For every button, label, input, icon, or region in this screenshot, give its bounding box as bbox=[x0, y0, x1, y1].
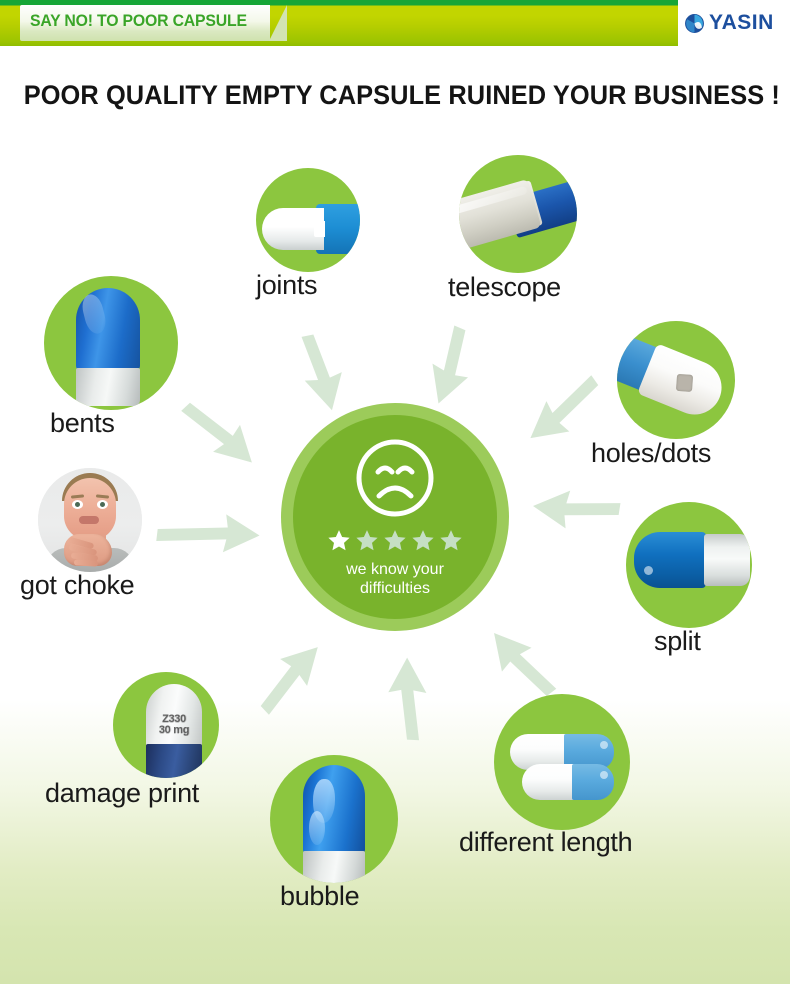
star-icon-empty-2 bbox=[354, 528, 380, 553]
capsule-telescope-icon bbox=[459, 155, 577, 273]
arrow-from-bubble bbox=[387, 657, 428, 741]
center-hub: we know your difficulties bbox=[281, 403, 509, 631]
capsule-bent-icon bbox=[44, 276, 178, 410]
defect-label-bents: bents bbox=[50, 408, 115, 439]
defect-node-joints[interactable]: joints bbox=[256, 168, 360, 272]
hub-caption: we know your difficulties bbox=[303, 560, 487, 598]
defect-node-holes-dots[interactable]: holes/dots bbox=[617, 321, 735, 439]
defect-node-bubble[interactable]: bubble bbox=[270, 755, 398, 883]
arrow-from-split bbox=[532, 488, 621, 532]
capsule-hole-icon bbox=[617, 321, 735, 439]
defect-diagram: we know your difficulties bents joints bbox=[0, 0, 790, 984]
star-icon-empty-5 bbox=[438, 528, 464, 553]
sad-face-icon bbox=[354, 437, 436, 519]
arrow-from-got-choke bbox=[156, 512, 260, 554]
choking-man-photo-icon bbox=[38, 468, 142, 572]
star-icon-empty-3 bbox=[382, 528, 408, 553]
defect-label-bubble: bubble bbox=[280, 881, 359, 912]
hub-caption-line1: we know your bbox=[303, 560, 487, 579]
hub-caption-line2: difficulties bbox=[303, 579, 487, 598]
defect-node-split[interactable]: split bbox=[626, 502, 752, 628]
defect-label-got-choke: got choke bbox=[20, 570, 134, 601]
defect-label-different-length: different length bbox=[459, 827, 632, 858]
defect-label-telescope: telescope bbox=[448, 272, 561, 303]
star-icon-filled-1 bbox=[326, 528, 352, 553]
defect-label-joints: joints bbox=[256, 270, 317, 301]
defect-label-split: split bbox=[654, 626, 701, 657]
arrow-from-bents bbox=[175, 389, 265, 475]
star-icon-empty-4 bbox=[410, 528, 436, 553]
capsule-length-icon bbox=[494, 694, 630, 830]
defect-label-damage-print: damage print bbox=[45, 778, 199, 809]
defect-node-damage-print[interactable]: Z330 30 mg damage print bbox=[113, 672, 219, 778]
defect-node-got-choke[interactable]: got choke bbox=[38, 468, 142, 572]
defect-label-holes-dots: holes/dots bbox=[591, 438, 711, 469]
page-root: SAY NO! TO POOR CAPSULE YASIN POOR QUALI… bbox=[0, 0, 790, 984]
defect-node-bents[interactable]: bents bbox=[44, 276, 178, 410]
arrow-from-telescope bbox=[421, 323, 482, 410]
arrow-from-damage-print bbox=[247, 634, 331, 721]
defect-node-telescope[interactable]: telescope bbox=[459, 155, 577, 273]
capsule-bubble-icon bbox=[270, 755, 398, 883]
rating-stars bbox=[309, 527, 481, 553]
capsule-print-icon: Z330 30 mg bbox=[113, 672, 219, 778]
defect-node-different-length[interactable]: different length bbox=[494, 694, 630, 830]
capsule-joint-icon bbox=[256, 168, 360, 272]
damage-print-line2: 30 mg bbox=[159, 724, 189, 736]
hub-core: we know your difficulties bbox=[293, 415, 497, 619]
capsule-split-icon bbox=[626, 502, 752, 628]
